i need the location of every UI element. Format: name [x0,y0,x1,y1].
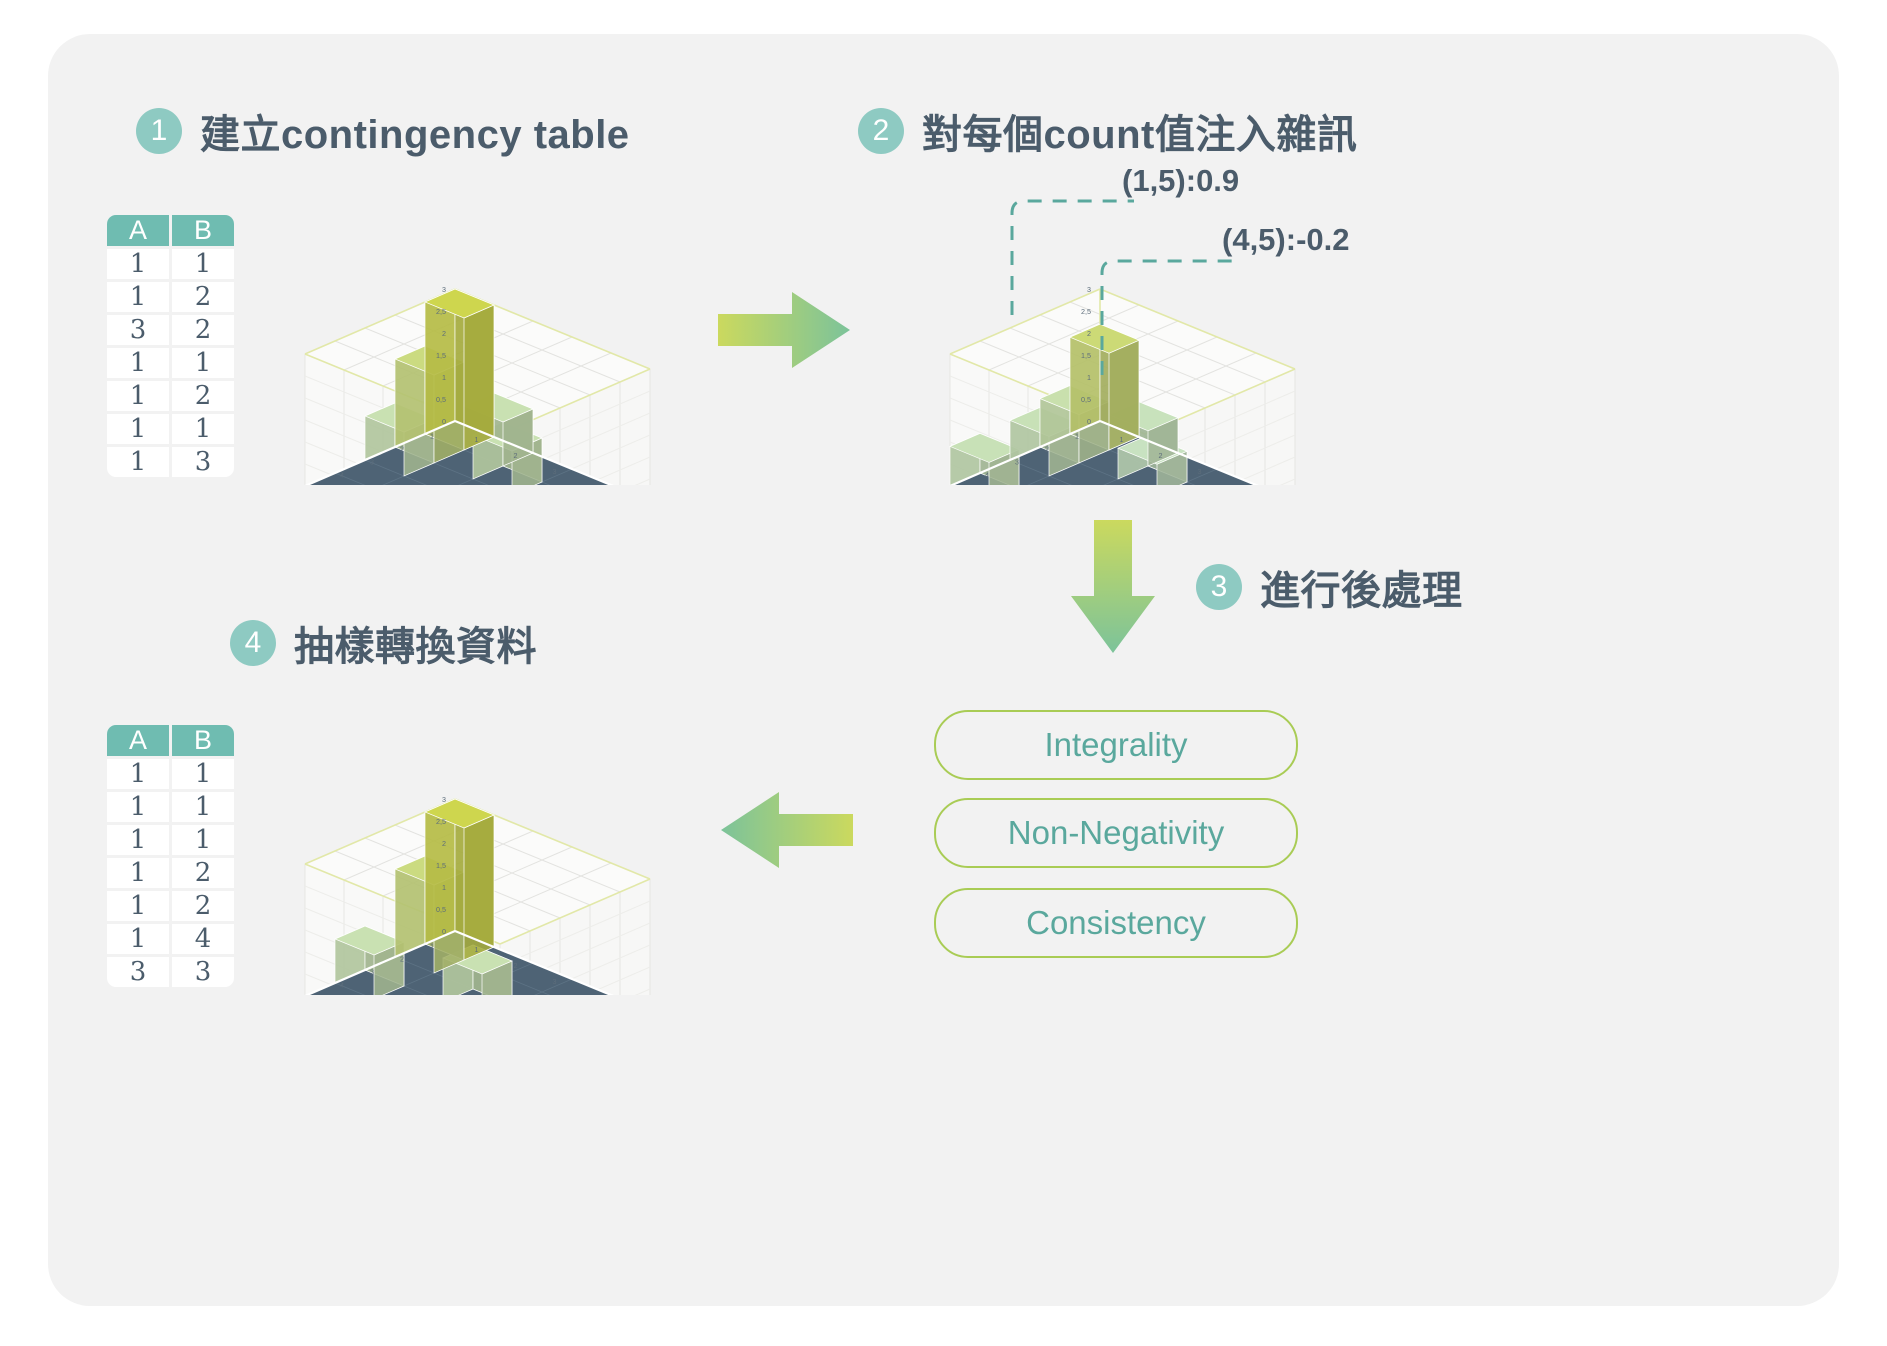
table-row: 1 2 [107,891,234,921]
contingency-input-table: A B 1 1 1 2 3 2 1 1 1 2 1 1 1 3 [104,212,237,480]
step-heading-4: 4 抽樣轉換資料 [230,614,537,672]
property-pill-label: Non-Negativity [1008,814,1224,852]
table-row: 1 2 [107,381,234,411]
cell-b: 3 [172,957,234,987]
svg-text:4: 4 [985,471,989,480]
svg-text:4: 4 [592,993,596,995]
step-heading-3: 3 進行後處理 [1196,558,1463,616]
cell-b: 1 [172,348,234,378]
svg-text:4: 4 [592,483,596,485]
svg-text:0,5: 0,5 [1081,395,1091,404]
annotation-leader-2 [1090,235,1240,375]
svg-text:1: 1 [430,432,434,441]
svg-text:3: 3 [370,968,374,977]
cell-a: 1 [107,891,169,921]
property-pill-label: Integrality [1044,726,1187,764]
cell-b: 4 [172,924,234,954]
step-badge-1: 1 [136,108,182,154]
cell-a: 1 [107,381,169,411]
column-header-b: B [172,215,234,246]
histogram-step4-resampled: 00,511,522,531234512345AB [300,735,700,995]
table-row: 1 3 [107,447,234,477]
annotation-label-2: (4,5):-0.2 [1222,222,1349,258]
step-heading-1: 1 建立contingency table [136,102,630,160]
svg-text:3: 3 [442,795,446,804]
cell-b: 1 [172,249,234,279]
svg-text:4: 4 [340,981,344,990]
step-title-2: 對每個count值注入雜訊 [922,102,1357,160]
table-header-row: A B [107,725,234,756]
table-row: 1 4 [107,924,234,954]
svg-text:2,5: 2,5 [436,817,446,826]
cell-b: 2 [172,858,234,888]
cell-b: 3 [172,447,234,477]
cell-a: 1 [107,759,169,789]
step-title-1: 建立contingency table [200,102,630,160]
table-row: 1 1 [107,249,234,279]
svg-text:2: 2 [1159,451,1163,460]
property-pill-consistency[interactable]: Consistency [934,888,1298,958]
arrow-right-step1-to-step2 [718,290,853,370]
cell-a: 1 [107,249,169,279]
histogram-step1: 00,511,522,531234512345AB [300,225,700,485]
svg-text:0,5: 0,5 [436,395,446,404]
arrow-down-step2-to-step3 [1068,520,1158,655]
svg-text:3: 3 [442,285,446,294]
svg-text:4: 4 [340,471,344,480]
svg-text:1: 1 [475,945,479,954]
svg-text:3: 3 [370,458,374,467]
table-row: 1 1 [107,348,234,378]
property-pill-integrality[interactable]: Integrality [934,710,1298,780]
column-header-b: B [172,725,234,756]
svg-text:2: 2 [400,955,404,964]
svg-text:1: 1 [442,373,446,382]
svg-text:2: 2 [1045,445,1049,454]
cell-a: 1 [107,924,169,954]
svg-text:1: 1 [1075,432,1079,441]
arrow-left-step3-to-step4 [718,790,853,870]
table-header-row: A B [107,215,234,246]
svg-text:2: 2 [400,445,404,454]
svg-text:2: 2 [514,451,518,460]
cell-a: 1 [107,792,169,822]
svg-text:3: 3 [553,467,557,476]
svg-text:1: 1 [1120,435,1124,444]
cell-a: 3 [107,957,169,987]
cell-a: 1 [107,447,169,477]
table-row: 1 2 [107,858,234,888]
property-pill-non-negativity[interactable]: Non-Negativity [934,798,1298,868]
table-row: 3 2 [107,315,234,345]
svg-text:3: 3 [553,977,557,986]
svg-text:4: 4 [1237,483,1241,485]
table-row: 1 1 [107,414,234,444]
cell-b: 1 [172,759,234,789]
svg-text:1,5: 1,5 [436,861,446,870]
cell-a: 1 [107,858,169,888]
column-header-a: A [107,725,169,756]
step-badge-3: 3 [1196,564,1242,610]
diagram-page: 1 建立contingency table 2 對每個count值注入雜訊 3 … [0,0,1887,1346]
svg-text:2: 2 [442,329,446,338]
cell-b: 2 [172,315,234,345]
step-badge-4: 4 [230,620,276,666]
cell-a: 1 [107,348,169,378]
table-row: 1 1 [107,792,234,822]
cell-a: 1 [107,825,169,855]
cell-b: 2 [172,891,234,921]
svg-text:1: 1 [430,942,434,951]
cell-b: 1 [172,792,234,822]
cell-b: 1 [172,414,234,444]
cell-a: 1 [107,414,169,444]
table-row: 1 2 [107,282,234,312]
step-heading-2: 2 對每個count值注入雜訊 [858,102,1357,160]
svg-text:1: 1 [442,883,446,892]
svg-text:0,5: 0,5 [436,905,446,914]
step-badge-2: 2 [858,108,904,154]
column-header-a: A [107,215,169,246]
svg-text:2: 2 [442,839,446,848]
step-title-4: 抽樣轉換資料 [294,614,537,672]
step-title-3: 進行後處理 [1260,558,1463,616]
cell-a: 1 [107,282,169,312]
resampled-output-table: A B 1 1 1 1 1 1 1 2 1 2 1 4 3 3 [104,722,237,990]
annotation-label-1: (1,5):0.9 [1122,163,1239,199]
svg-text:1: 1 [475,435,479,444]
cell-b: 2 [172,381,234,411]
table-row: 3 3 [107,957,234,987]
svg-text:2: 2 [514,961,518,970]
svg-text:3: 3 [1015,458,1019,467]
svg-text:2,5: 2,5 [436,307,446,316]
svg-text:3: 3 [1198,467,1202,476]
cell-b: 2 [172,282,234,312]
property-pill-label: Consistency [1026,904,1206,942]
table-row: 1 1 [107,759,234,789]
table-row: 1 1 [107,825,234,855]
svg-text:1,5: 1,5 [436,351,446,360]
cell-b: 1 [172,825,234,855]
cell-a: 3 [107,315,169,345]
